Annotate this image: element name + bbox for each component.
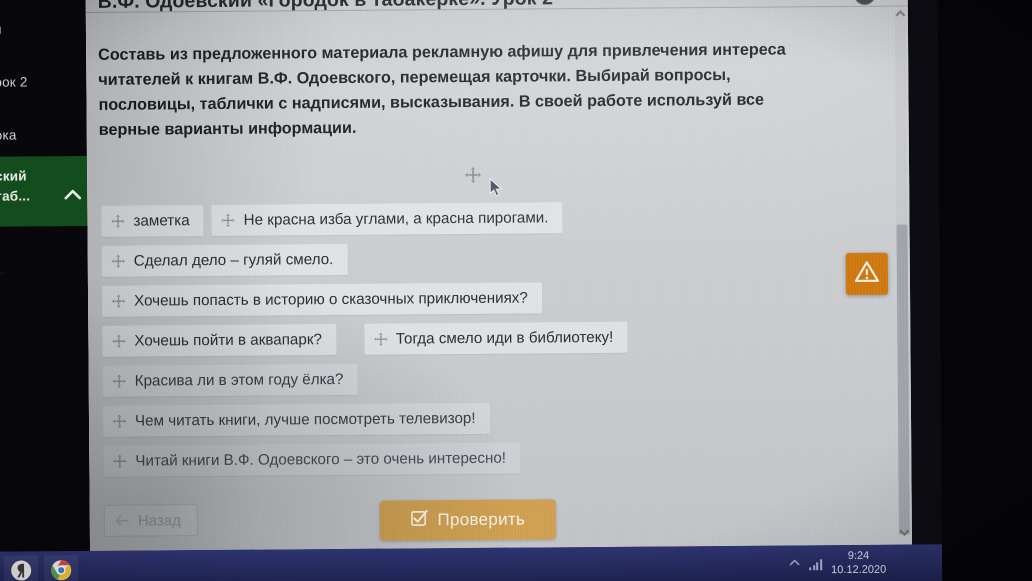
card[interactable]: Чем читать книги, лучше посмотреть телев… (103, 402, 490, 436)
sidebar-faint-text: ... (0, 262, 88, 277)
monitor-screen: й рок 2 ока ский таб... ... В (0, 0, 942, 581)
task-instruction: Составь из предложенного материала рекла… (98, 37, 829, 143)
card[interactable]: Читай книги В.Ф. Одоевского – это очень … (103, 442, 520, 476)
card-label: заметка (133, 212, 189, 229)
clock-time: 9:24 (831, 550, 886, 564)
yandex-browser-icon[interactable] (4, 555, 38, 581)
arrow-left-icon (115, 513, 130, 528)
drag-move-icon[interactable] (221, 212, 236, 227)
check-button-label: Проверить (437, 510, 525, 531)
card-row: Хочешь пойти в аквапарк? Тогда смело иди… (102, 319, 892, 357)
card[interactable]: заметка (101, 205, 203, 237)
system-tray: 9:24 10.12.2020 (789, 550, 942, 579)
clock-date: 10.12.2020 (831, 564, 886, 578)
card[interactable]: Сделал дело – гуляй смело. (102, 243, 348, 276)
card-row: заметка Не красна изба углами, а красна … (101, 199, 891, 237)
page-title: В.Ф. Одоевский «Городок в табакерке». Ур… (98, 0, 553, 14)
drag-move-icon[interactable] (373, 331, 388, 346)
card-label: Читай книги В.Ф. Одоевского – это очень … (135, 449, 506, 469)
sidebar-item-2-label: рок 2 (0, 74, 28, 89)
card[interactable]: Красива ли в этом году ёлка? (103, 363, 358, 396)
back-button-label: Назад (138, 512, 181, 529)
card[interactable]: Не красна изба углами, а красна пирогами… (212, 202, 563, 236)
check-button[interactable]: Проверить (380, 499, 556, 540)
drag-move-icon[interactable] (111, 333, 126, 348)
course-sidebar: й рок 2 ока ский таб... ... (0, 0, 90, 581)
back-button[interactable]: Назад (104, 504, 198, 537)
drag-move-icon[interactable] (112, 453, 127, 468)
sidebar-item-2[interactable]: рок 2 (0, 50, 87, 104)
card-label: Хочешь попасть в историю о сказочных при… (134, 289, 528, 309)
clock[interactable]: 9:24 10.12.2020 (831, 550, 886, 578)
drag-move-icon[interactable] (112, 413, 127, 428)
mouse-cursor (489, 178, 503, 198)
card-label: Красива ли в этом году ёлка? (135, 370, 344, 389)
scrollbar-thumb[interactable] (896, 225, 909, 535)
card-row: Читай книги В.Ф. Одоевского – это очень … (103, 439, 893, 477)
close-icon[interactable]: ✕ (887, 0, 901, 3)
card-row: Красива ли в этом году ёлка? (103, 359, 893, 397)
card-label: Хочешь пойти в аквапарк? (134, 331, 322, 349)
content-scrollbar[interactable] (895, 9, 910, 539)
drag-move-icon[interactable] (110, 213, 125, 228)
card[interactable]: Хочешь попасть в историю о сказочных при… (102, 282, 542, 316)
chrome-browser-icon[interactable] (44, 555, 78, 581)
sidebar-item-active-lesson[interactable]: ский таб... (0, 156, 87, 227)
sidebar-item-1-label: й (0, 22, 2, 37)
report-problem-button[interactable] (846, 253, 888, 295)
drag-move-icon[interactable] (112, 373, 127, 388)
card-label: Сделал дело – гуляй смело. (134, 251, 334, 270)
card-row: Сделал дело – гуляй смело. (102, 239, 892, 277)
card[interactable]: Хочешь пойти в аквапарк? (102, 324, 336, 357)
drag-move-icon[interactable] (111, 253, 126, 268)
photo-of-screen: й рок 2 ока ский таб... ... В (0, 0, 1032, 581)
network-signal-icon[interactable] (810, 558, 823, 570)
card-label: Не красна изба углами, а красна пирогами… (244, 209, 549, 228)
draggable-card-list: заметка Не красна изба углами, а красна … (101, 199, 893, 485)
action-bar: Назад Проверить (90, 493, 912, 545)
scroll-up-icon[interactable] (895, 10, 905, 20)
card-row: Хочешь попасть в историю о сказочных при… (102, 279, 892, 317)
drag-move-icon[interactable] (111, 293, 126, 308)
window-controls: ✕ (853, 0, 901, 5)
show-hidden-icons-icon[interactable] (790, 558, 801, 570)
card-label: Чем читать книги, лучше посмотреть телев… (135, 409, 476, 429)
warning-triangle-icon (854, 259, 880, 288)
windows-taskbar: 9:24 10.12.2020 (0, 544, 942, 581)
checkbox-check-icon (410, 509, 427, 531)
sidebar-item-1[interactable]: й (0, 7, 86, 51)
card[interactable]: Тогда смело иди в библиотеку! (364, 321, 628, 354)
chevron-up-icon[interactable] (64, 182, 81, 208)
card-label: Тогда смело иди в библиотеку! (396, 328, 614, 347)
card-row: Чем читать книги, лучше посмотреть телев… (103, 399, 893, 437)
sidebar-item-3-label: ока (0, 128, 17, 143)
lesson-content-panel: В.Ф. Одоевский «Городок в табакерке». Ур… (86, 0, 912, 551)
drag-move-icon[interactable] (464, 166, 482, 184)
avatar[interactable] (853, 0, 875, 4)
sidebar-item-3[interactable]: ока (0, 103, 87, 157)
